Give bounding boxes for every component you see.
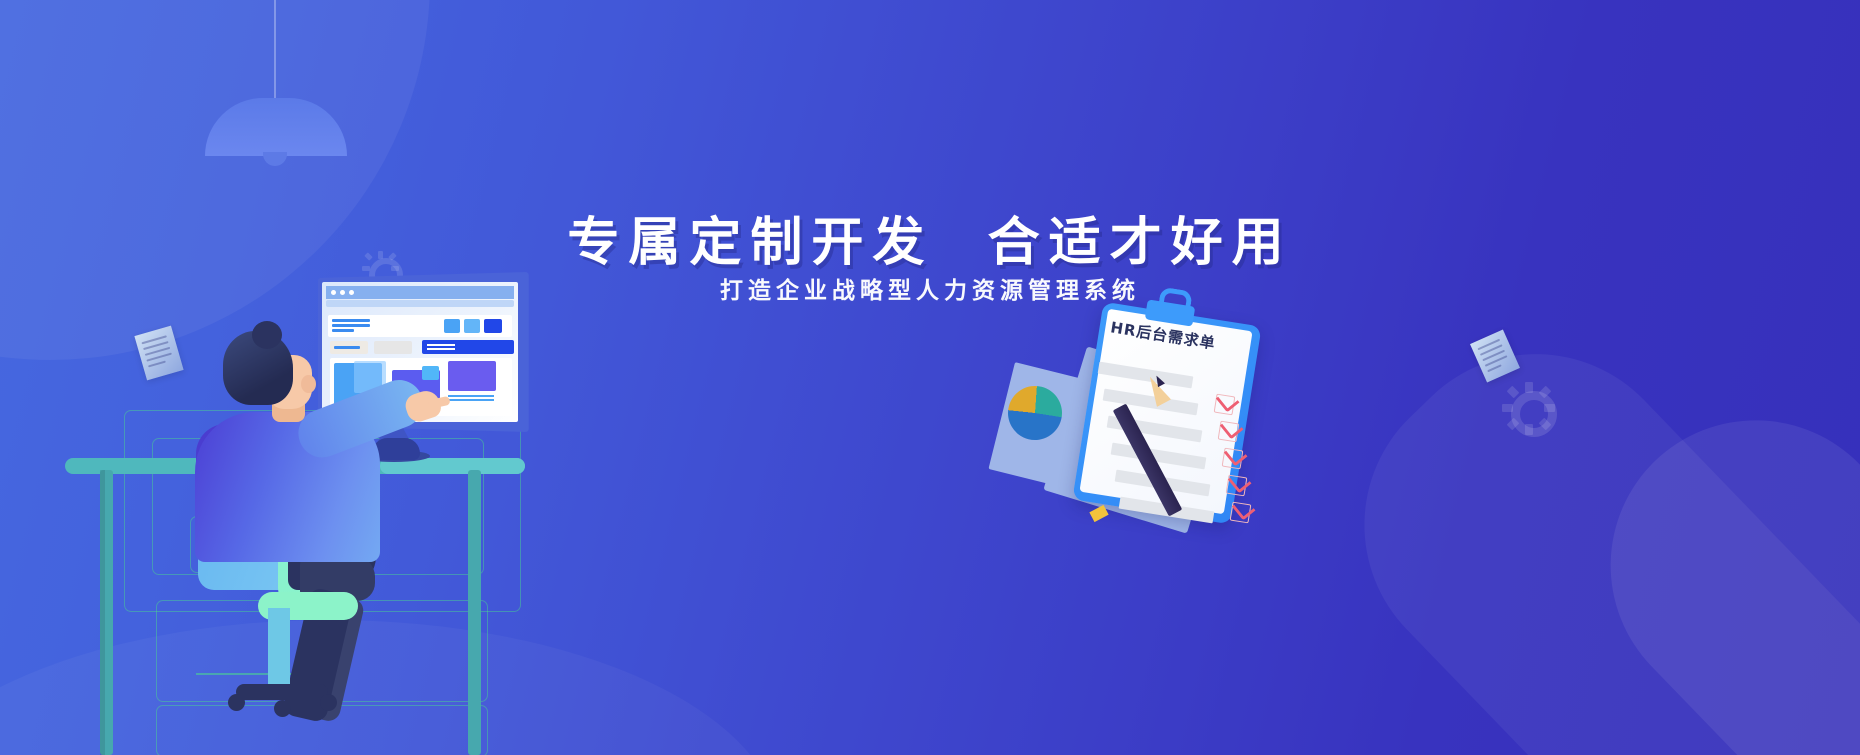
gear-icon-right	[1505, 385, 1567, 447]
browser-dot-3	[349, 290, 354, 295]
dashboard-tile-3-line-2	[427, 348, 455, 350]
clipboard-checkbox-1[interactable]	[1214, 394, 1236, 416]
dashboard-header-line-3	[332, 329, 354, 332]
subheadline-container: 打造企业战略型人力资源管理系统	[0, 252, 1860, 324]
desk-leg-right	[468, 470, 481, 755]
dashboard-panel-2-badge	[422, 366, 439, 380]
chair-wheel-1	[228, 694, 245, 711]
page-subtitle: 打造企业战略型人力资源管理系统	[720, 271, 1140, 305]
chair-post	[268, 608, 290, 688]
clipboard-checkbox-5[interactable]	[1230, 502, 1252, 524]
dashboard-panel-3	[448, 361, 496, 391]
chair-base	[236, 684, 328, 700]
check-icon	[1232, 496, 1256, 520]
dashboard-chip-3	[484, 319, 502, 333]
dashboard-tile-2	[374, 341, 412, 354]
dashboard-header-line-2	[332, 324, 370, 327]
browser-address-bar	[326, 300, 514, 307]
dashboard-tile-3	[422, 340, 514, 354]
browser-dot-2	[340, 290, 345, 295]
lamp-cord-icon	[274, 0, 276, 102]
clipboard-checkbox-4[interactable]	[1226, 475, 1248, 497]
dashboard-panel-3-line-2	[448, 399, 494, 401]
dashboard-tile-1-line	[334, 346, 360, 349]
dashboard-tile-3-line-1	[427, 344, 455, 346]
browser-toolbar	[326, 286, 514, 299]
dashboard-header-line-1	[332, 319, 370, 322]
person-hair-bun	[252, 321, 282, 349]
clipboard-checkbox-3[interactable]	[1222, 448, 1244, 470]
chair-wheel-3	[320, 694, 337, 711]
browser-dot-1	[331, 290, 336, 295]
hero-banner: 专属定制开发 合适才好用 打造企业战略型人力资源管理系统	[0, 0, 1860, 755]
dashboard-panel-3-line-1	[448, 395, 494, 397]
chair-wheel-2	[274, 700, 291, 717]
desk-leg-shadow	[100, 470, 105, 755]
dashboard-chip-1	[444, 319, 460, 333]
dashboard-chip-2	[464, 319, 480, 333]
clipboard-checkbox-2[interactable]	[1218, 421, 1240, 443]
person-ear	[301, 375, 316, 393]
